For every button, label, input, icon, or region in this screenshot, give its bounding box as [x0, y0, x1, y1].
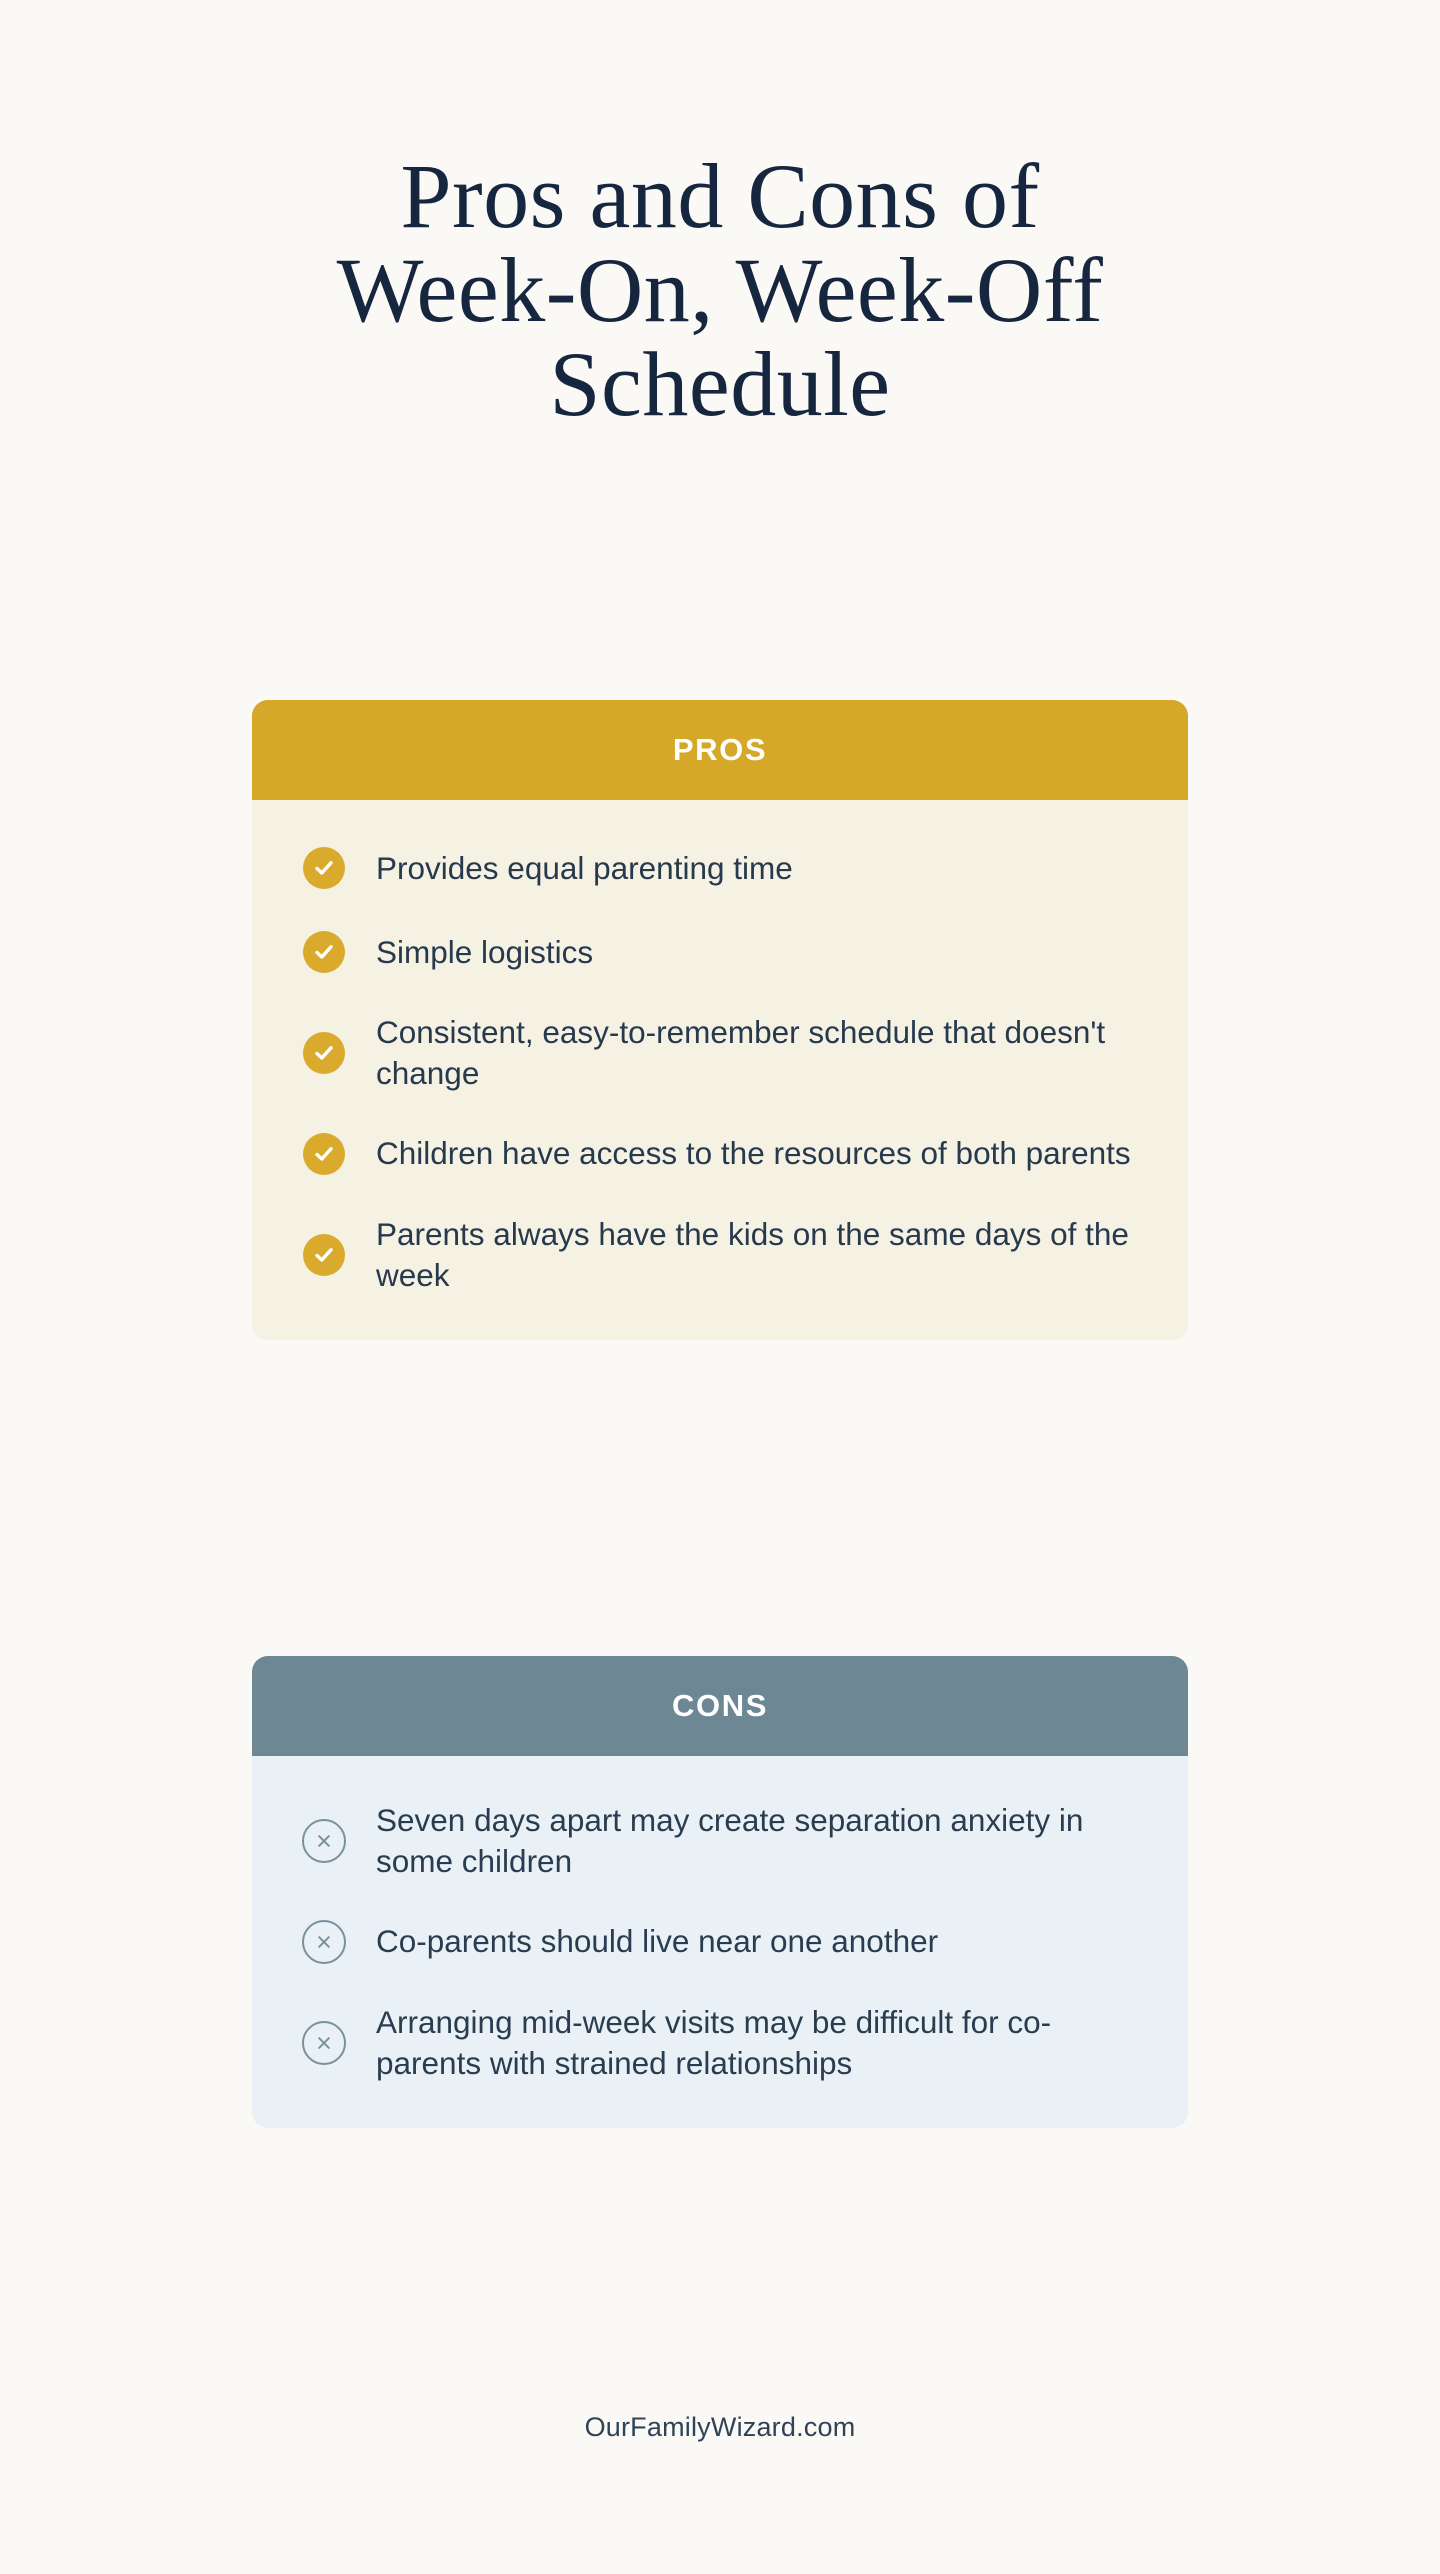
cons-card-body: Seven days apart may create separation a… — [252, 1756, 1188, 2128]
cons-card: CONS Seven days apart may create separat… — [252, 1656, 1188, 2128]
pros-card: PROS Provides equal parenting time — [252, 700, 1188, 1340]
cons-header-label: CONS — [672, 1688, 768, 1724]
title-line-2: Week-On, Week-Off — [180, 244, 1260, 338]
footer-brand: OurFamilyWizard.com — [0, 2412, 1440, 2443]
pros-card-header: PROS — [252, 700, 1188, 800]
x-circle-icon — [300, 2019, 348, 2067]
title-line-3: Schedule — [180, 338, 1260, 432]
list-item: Parents always have the kids on the same… — [300, 1214, 1132, 1296]
list-item: Co-parents should live near one another — [300, 1918, 1132, 1966]
footer-brand-label: OurFamilyWizard.com — [585, 2412, 856, 2442]
check-circle-icon — [300, 1231, 348, 1279]
list-item-label: Provides equal parenting time — [376, 848, 793, 889]
x-circle-icon — [300, 1817, 348, 1865]
list-item-label: Parents always have the kids on the same… — [376, 1214, 1132, 1296]
list-item-label: Simple logistics — [376, 932, 593, 973]
check-circle-icon — [300, 1029, 348, 1077]
list-item: Consistent, easy-to-remember schedule th… — [300, 1012, 1132, 1094]
pros-card-body: Provides equal parenting time Simple log… — [252, 800, 1188, 1340]
list-item-label: Children have access to the resources of… — [376, 1133, 1131, 1174]
check-circle-icon — [300, 1130, 348, 1178]
list-item: Children have access to the resources of… — [300, 1130, 1132, 1178]
infographic-page: Pros and Cons of Week-On, Week-Off Sched… — [0, 0, 1440, 2574]
page-title: Pros and Cons of Week-On, Week-Off Sched… — [0, 150, 1440, 431]
list-item-label: Consistent, easy-to-remember schedule th… — [376, 1012, 1132, 1094]
list-item: Simple logistics — [300, 928, 1132, 976]
x-circle-icon — [300, 1918, 348, 1966]
list-item: Seven days apart may create separation a… — [300, 1800, 1132, 1882]
check-circle-icon — [300, 928, 348, 976]
list-item-label: Arranging mid-week visits may be difficu… — [376, 2002, 1132, 2084]
list-item-label: Seven days apart may create separation a… — [376, 1800, 1132, 1882]
title-line-1: Pros and Cons of — [180, 150, 1260, 244]
list-item: Arranging mid-week visits may be difficu… — [300, 2002, 1132, 2084]
list-item: Provides equal parenting time — [300, 844, 1132, 892]
check-circle-icon — [300, 844, 348, 892]
list-item-label: Co-parents should live near one another — [376, 1921, 938, 1962]
pros-header-label: PROS — [673, 732, 767, 768]
title-heading: Pros and Cons of Week-On, Week-Off Sched… — [0, 150, 1440, 431]
cons-card-header: CONS — [252, 1656, 1188, 1756]
